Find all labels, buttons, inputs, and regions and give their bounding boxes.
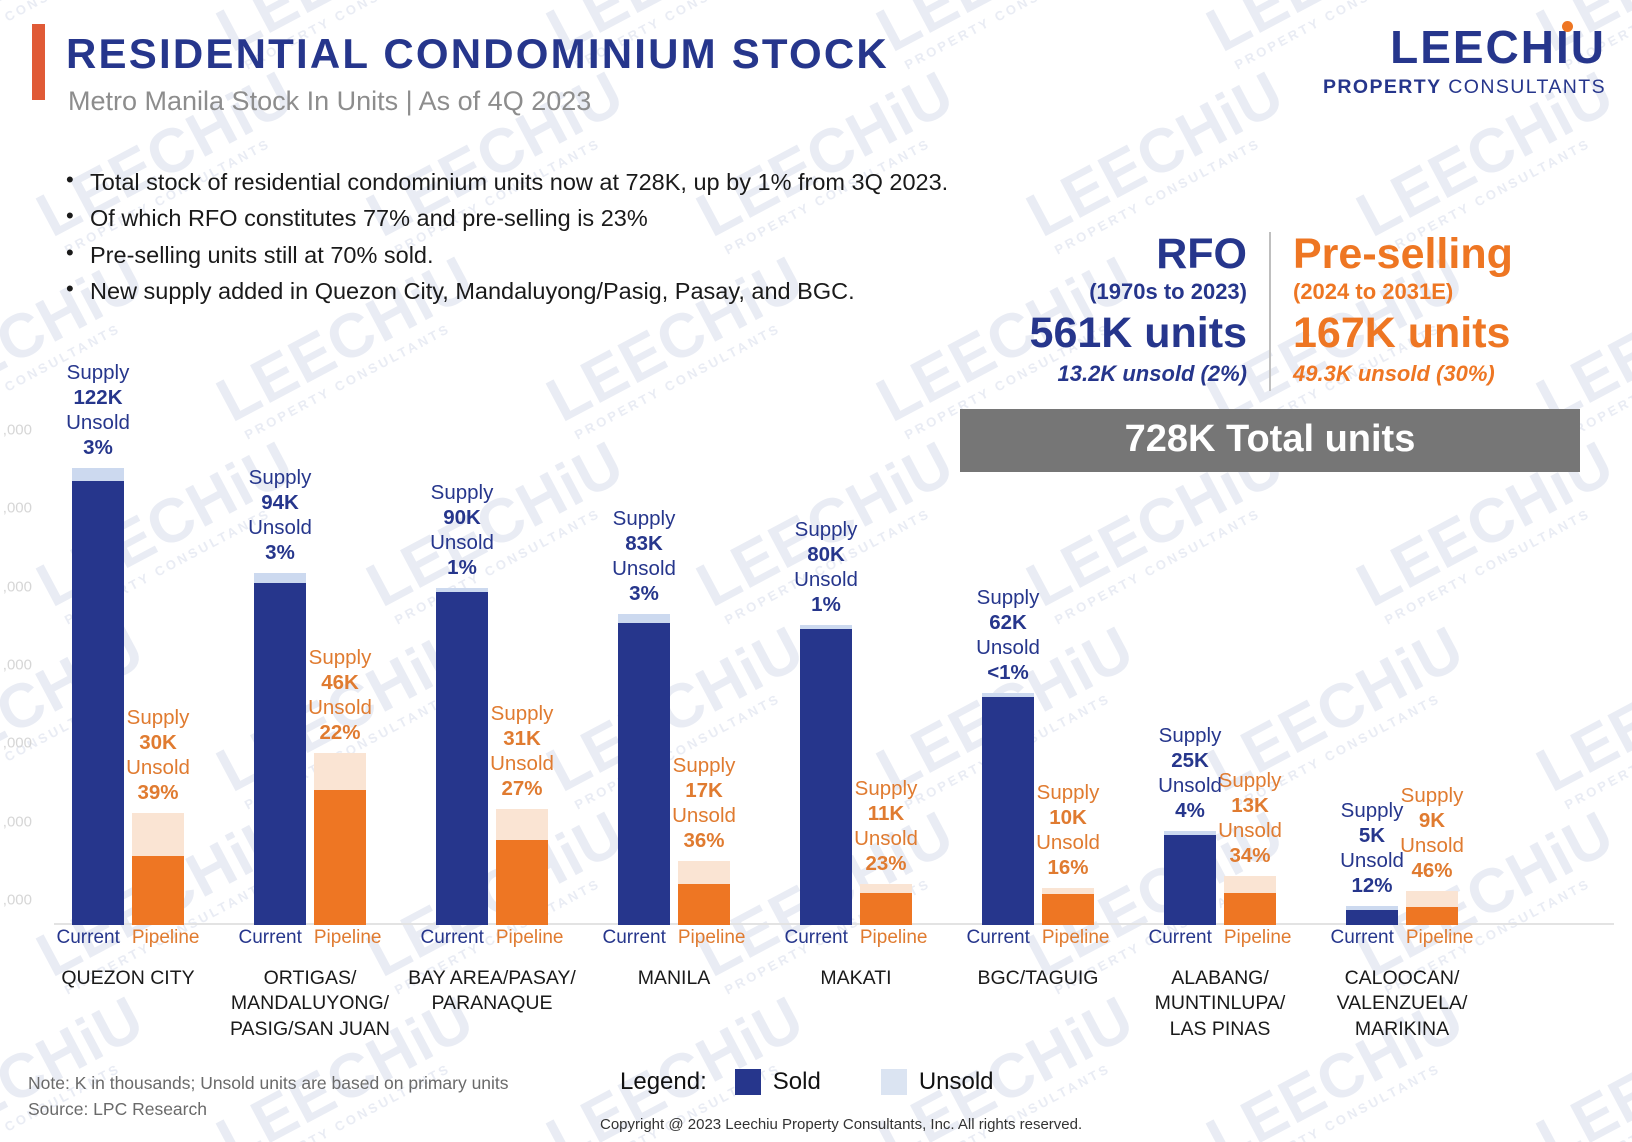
bar-segment-sold: [1406, 907, 1458, 925]
bar-segment-sold: [1346, 910, 1398, 925]
label-supply-word: Supply: [457, 701, 587, 726]
highlight-item: Of which RFO constitutes 77% and pre-sel…: [62, 201, 948, 235]
bar-segment-unsold: [1406, 891, 1458, 907]
bar-segment-unsold: [1224, 876, 1276, 893]
x-axis-group: CurrentPipelineMANILA: [582, 927, 766, 991]
page-header: RESIDENTIAL CONDOMINIUM STOCK Metro Mani…: [0, 0, 1632, 140]
logo-tagline-bold: PROPERTY: [1323, 76, 1441, 98]
label-unsold-pct: 36%: [639, 828, 769, 853]
label-supply-value: 62K: [943, 610, 1073, 635]
series-tick-row: CurrentPipeline: [1128, 927, 1312, 949]
stacked-bar[interactable]: [678, 861, 730, 925]
bar-segment-sold: [1224, 893, 1276, 925]
bar-segment-unsold: [678, 861, 730, 884]
district-label-line: PARANAQUE: [400, 991, 584, 1016]
bar-value-label: Supply13KUnsold34%: [1185, 768, 1315, 868]
tick-pipeline: Pipeline: [1042, 927, 1110, 948]
label-unsold-pct: 27%: [457, 776, 587, 801]
highlights-list: Total stock of residential condominium u…: [62, 165, 948, 310]
x-axis-group: CurrentPipelineORTIGAS/MANDALUYONG/PASIG…: [218, 927, 402, 1042]
bar-group: Supply83KUnsold3%Supply17KUnsold36%: [618, 400, 730, 925]
district-label-line: MUNTINLUPA/: [1128, 991, 1312, 1016]
y-axis-tick: ,000: [3, 892, 32, 909]
y-axis: ,000,000,000,000,000,000,000: [0, 400, 34, 925]
stacked-bar[interactable]: [72, 468, 124, 926]
tick-pipeline: Pipeline: [132, 927, 200, 948]
highlight-item: Pre-selling units still at 70% sold.: [62, 238, 948, 272]
bar-segment-sold: [1042, 894, 1094, 926]
label-supply-word: Supply: [1185, 768, 1315, 793]
label-supply-word: Supply: [275, 645, 405, 670]
bar-value-label: Supply30KUnsold39%: [93, 705, 223, 805]
tick-pipeline: Pipeline: [678, 927, 746, 948]
label-unsold-word: Unsold: [215, 515, 345, 540]
label-supply-value: 83K: [579, 531, 709, 556]
x-axis-group: CurrentPipelineALABANG/MUNTINLUPA/LAS PI…: [1128, 927, 1312, 1042]
legend-swatch-unsold-icon: [881, 1069, 907, 1095]
bar-segment-unsold: [314, 753, 366, 791]
bar-current[interactable]: Supply5KUnsold12%: [1346, 906, 1398, 925]
label-unsold-pct: 3%: [215, 540, 345, 565]
district-label-line: BAY AREA/PASAY/: [400, 966, 584, 991]
plot-area: Supply122KUnsold3%Supply30KUnsold39%Supp…: [34, 400, 1632, 925]
legend-text-sold: Sold: [773, 1068, 821, 1096]
x-axis-group: CurrentPipelineBGC/TAGUIG: [946, 927, 1130, 991]
tick-pipeline: Pipeline: [1224, 927, 1292, 948]
label-unsold-word: Unsold: [1003, 830, 1133, 855]
source-line: Source: LPC Research: [28, 1096, 509, 1122]
bar-value-label: Supply11KUnsold23%: [821, 776, 951, 876]
bar-pipeline[interactable]: Supply17KUnsold36%: [678, 861, 730, 925]
district-label-line: VALENZUELA/: [1310, 991, 1494, 1016]
stacked-bar[interactable]: [1406, 891, 1458, 925]
label-supply-word: Supply: [215, 465, 345, 490]
rfo-unsold: 13.2K unsold (2%): [960, 361, 1247, 387]
bar-value-label: Supply9KUnsold46%: [1367, 783, 1497, 883]
label-unsold-word: Unsold: [33, 410, 163, 435]
label-supply-word: Supply: [93, 705, 223, 730]
rfo-year-range: (1970s to 2023): [960, 279, 1247, 305]
series-tick-row: CurrentPipeline: [1310, 927, 1494, 949]
label-unsold-word: Unsold: [761, 567, 891, 592]
tick-current: Current: [785, 927, 848, 948]
label-unsold-pct: 34%: [1185, 843, 1315, 868]
bar-value-label: Supply80KUnsold1%: [761, 517, 891, 617]
title-accent-bar: [32, 24, 45, 100]
bar-pipeline[interactable]: Supply11KUnsold23%: [860, 884, 912, 925]
y-axis-tick: ,000: [3, 813, 32, 830]
bar-pipeline[interactable]: Supply31KUnsold27%: [496, 809, 548, 925]
series-tick-row: CurrentPipeline: [764, 927, 948, 949]
label-unsold-pct: 1%: [397, 555, 527, 580]
label-supply-word: Supply: [1003, 780, 1133, 805]
series-tick-row: CurrentPipeline: [36, 927, 220, 949]
stat-card-preselling: Pre-selling (2024 to 2031E) 167K units 4…: [1269, 232, 1580, 391]
bar-segment-sold: [678, 884, 730, 925]
tick-current: Current: [239, 927, 302, 948]
label-supply-word: Supply: [821, 776, 951, 801]
tick-current: Current: [421, 927, 484, 948]
bar-pipeline[interactable]: Supply10KUnsold16%: [1042, 888, 1094, 926]
label-unsold-word: Unsold: [943, 635, 1073, 660]
label-unsold-word: Unsold: [397, 530, 527, 555]
district-label-line: BGC/TAGUIG: [946, 966, 1130, 991]
label-supply-value: 11K: [821, 801, 951, 826]
district-label-line: QUEZON CITY: [36, 966, 220, 991]
bar-group: Supply90KUnsold1%Supply31KUnsold27%: [436, 400, 548, 925]
bar-pipeline[interactable]: Supply46KUnsold22%: [314, 753, 366, 926]
bar-current[interactable]: Supply94KUnsold3%: [254, 573, 306, 926]
label-supply-value: 30K: [93, 730, 223, 755]
label-unsold-pct: 16%: [1003, 855, 1133, 880]
label-supply-word: Supply: [761, 517, 891, 542]
label-unsold-word: Unsold: [1185, 818, 1315, 843]
footnotes: Note: K in thousands; Unsold units are b…: [28, 1070, 509, 1123]
rfo-heading: RFO: [960, 232, 1247, 277]
bar-group: Supply122KUnsold3%Supply30KUnsold39%: [72, 400, 184, 925]
x-axis-group: CurrentPipelineCALOOCAN/VALENZUELA/MARIK…: [1310, 927, 1494, 1042]
bar-group: Supply62KUnsold<1%Supply10KUnsold16%: [982, 400, 1094, 925]
label-unsold-pct: <1%: [943, 660, 1073, 685]
preselling-unsold: 49.3K unsold (30%): [1293, 361, 1580, 387]
label-supply-value: 90K: [397, 505, 527, 530]
district-label: MANILA: [582, 966, 766, 991]
stacked-bar[interactable]: [1346, 906, 1398, 925]
stacked-bar[interactable]: [132, 813, 184, 926]
bar-value-label: Supply17KUnsold36%: [639, 753, 769, 853]
district-label: QUEZON CITY: [36, 966, 220, 991]
label-unsold-word: Unsold: [457, 751, 587, 776]
label-supply-word: Supply: [397, 480, 527, 505]
logo-wordmark: LEECHIU: [1390, 24, 1606, 70]
logo-orange-dot-icon: [1562, 21, 1573, 32]
tick-pipeline: Pipeline: [496, 927, 564, 948]
legend-swatch-sold-icon: [735, 1069, 761, 1095]
tick-current: Current: [1331, 927, 1394, 948]
label-unsold-word: Unsold: [639, 803, 769, 828]
bar-segment-unsold: [860, 884, 912, 893]
label-unsold-word: Unsold: [579, 556, 709, 581]
district-label-line: CALOOCAN/: [1310, 966, 1494, 991]
bar-segment-unsold: [132, 813, 184, 857]
district-label-line: ALABANG/: [1128, 966, 1312, 991]
bar-segment-sold: [860, 893, 912, 925]
stacked-bar[interactable]: [254, 573, 306, 926]
x-axis-group: CurrentPipelineMAKATI: [764, 927, 948, 991]
bar-value-label: Supply94KUnsold3%: [215, 465, 345, 565]
tick-pipeline: Pipeline: [860, 927, 928, 948]
district-label: ALABANG/MUNTINLUPA/LAS PINAS: [1128, 966, 1312, 1042]
bar-segment-unsold: [254, 573, 306, 584]
label-supply-word: Supply: [1367, 783, 1497, 808]
preselling-units: 167K units: [1293, 309, 1580, 358]
label-unsold-word: Unsold: [93, 755, 223, 780]
bar-segment-unsold: [618, 614, 670, 623]
logo-text: LEECHIU: [1390, 21, 1606, 73]
bar-pipeline[interactable]: Supply30KUnsold39%: [132, 813, 184, 926]
bar-value-label: Supply10KUnsold16%: [1003, 780, 1133, 880]
bar-segment-unsold: [496, 809, 548, 840]
tick-current: Current: [967, 927, 1030, 948]
legend-label: Legend:: [620, 1068, 707, 1096]
label-supply-value: 9K: [1367, 808, 1497, 833]
district-label: ORTIGAS/MANDALUYONG/PASIG/SAN JUAN: [218, 966, 402, 1042]
tick-current: Current: [57, 927, 120, 948]
y-axis-tick: ,000: [3, 735, 32, 752]
label-supply-word: Supply: [33, 360, 163, 385]
stacked-bar[interactable]: [1224, 876, 1276, 925]
stacked-bar[interactable]: [496, 809, 548, 925]
bar-segment-sold: [314, 790, 366, 925]
legend-text-unsold: Unsold: [919, 1068, 994, 1096]
label-supply-value: 31K: [457, 726, 587, 751]
logo-tagline-light: CONSULTANTS: [1441, 76, 1606, 98]
legend-item-unsold: Unsold: [881, 1068, 994, 1096]
bar-current[interactable]: Supply122KUnsold3%: [72, 468, 124, 926]
bar-segment-sold: [254, 583, 306, 925]
label-unsold-pct: 23%: [821, 851, 951, 876]
bar-pipeline[interactable]: Supply13KUnsold34%: [1224, 876, 1276, 925]
highlight-item: Total stock of residential condominium u…: [62, 165, 948, 199]
label-supply-value: 94K: [215, 490, 345, 515]
y-axis-tick: ,000: [3, 657, 32, 674]
bar-value-label: Supply31KUnsold27%: [457, 701, 587, 801]
district-label: CALOOCAN/VALENZUELA/MARIKINA: [1310, 966, 1494, 1042]
series-tick-row: CurrentPipeline: [218, 927, 402, 949]
label-unsold-word: Unsold: [275, 695, 405, 720]
y-axis-tick: ,000: [3, 500, 32, 517]
bar-value-label: Supply122KUnsold3%: [33, 360, 163, 460]
leechiu-logo: LEECHIU PROPERTY CONSULTANTS: [1323, 24, 1606, 99]
bar-value-label: Supply83KUnsold3%: [579, 506, 709, 606]
x-axis-group: CurrentPipelineQUEZON CITY: [36, 927, 220, 991]
tick-current: Current: [1149, 927, 1212, 948]
district-label-line: MANILA: [582, 966, 766, 991]
bar-segment-sold: [72, 481, 124, 925]
y-axis-tick: ,000: [3, 578, 32, 595]
label-supply-value: 80K: [761, 542, 891, 567]
series-tick-row: CurrentPipeline: [946, 927, 1130, 949]
series-tick-row: CurrentPipeline: [582, 927, 766, 949]
label-supply-word: Supply: [1125, 723, 1255, 748]
district-label: BGC/TAGUIG: [946, 966, 1130, 991]
label-supply-word: Supply: [639, 753, 769, 778]
district-label: MAKATI: [764, 966, 948, 991]
tick-pipeline: Pipeline: [314, 927, 382, 948]
x-axis-group: CurrentPipelineBAY AREA/PASAY/PARANAQUE: [400, 927, 584, 1017]
stacked-bar[interactable]: [860, 884, 912, 925]
label-supply-word: Supply: [943, 585, 1073, 610]
bar-value-label: Supply46KUnsold22%: [275, 645, 405, 745]
bar-segment-sold: [496, 840, 548, 925]
label-supply-value: 122K: [33, 385, 163, 410]
district-label-line: ORTIGAS/: [218, 966, 402, 991]
label-supply-word: Supply: [579, 506, 709, 531]
bar-group: Supply80KUnsold1%Supply11KUnsold23%: [800, 400, 912, 925]
copyright-line: Copyright @ 2023 Leechiu Property Consul…: [600, 1116, 1082, 1133]
label-unsold-pct: 39%: [93, 780, 223, 805]
label-unsold-word: Unsold: [1367, 833, 1497, 858]
total-units-banner: 728K Total units: [960, 409, 1580, 472]
chart-legend: Legend: Sold Unsold: [620, 1068, 1054, 1096]
preselling-year-range: (2024 to 2031E): [1293, 279, 1580, 305]
bar-group: Supply25KUnsold4%Supply13KUnsold34%: [1164, 400, 1276, 925]
label-supply-value: 10K: [1003, 805, 1133, 830]
district-label: BAY AREA/PASAY/PARANAQUE: [400, 966, 584, 1017]
district-label-line: MANDALUYONG/: [218, 991, 402, 1016]
bar-segment-unsold: [72, 468, 124, 482]
bar-pipeline[interactable]: Supply9KUnsold46%: [1406, 891, 1458, 925]
preselling-heading: Pre-selling: [1293, 232, 1580, 277]
stacked-bar[interactable]: [1042, 888, 1094, 926]
label-unsold-word: Unsold: [821, 826, 951, 851]
rfo-units: 561K units: [960, 309, 1247, 358]
series-tick-row: CurrentPipeline: [400, 927, 584, 949]
tick-pipeline: Pipeline: [1406, 927, 1474, 948]
label-unsold-pct: 22%: [275, 720, 405, 745]
page-footer: Note: K in thousands; Unsold units are b…: [0, 1032, 1632, 1142]
label-unsold-pct: 46%: [1367, 858, 1497, 883]
summary-stats-panel: RFO (1970s to 2023) 561K units 13.2K uns…: [960, 232, 1580, 472]
stat-card-rfo: RFO (1970s to 2023) 561K units 13.2K uns…: [960, 232, 1269, 391]
label-supply-value: 46K: [275, 670, 405, 695]
highlight-item: New supply added in Quezon City, Mandalu…: [62, 274, 948, 308]
bar-group: Supply5KUnsold12%Supply9KUnsold46%: [1346, 400, 1458, 925]
bar-value-label: Supply62KUnsold<1%: [943, 585, 1073, 685]
page-subtitle: Metro Manila Stock In Units | As of 4Q 2…: [68, 86, 591, 117]
logo-tagline: PROPERTY CONSULTANTS: [1323, 76, 1606, 99]
y-axis-tick: ,000: [3, 422, 32, 439]
page-title: RESIDENTIAL CONDOMINIUM STOCK: [66, 30, 889, 78]
district-label-line: MAKATI: [764, 966, 948, 991]
tick-current: Current: [603, 927, 666, 948]
bar-value-label: Supply90KUnsold1%: [397, 480, 527, 580]
label-supply-value: 17K: [639, 778, 769, 803]
label-unsold-pct: 3%: [579, 581, 709, 606]
note-line: Note: K in thousands; Unsold units are b…: [28, 1070, 509, 1096]
bar-segment-sold: [132, 856, 184, 925]
label-unsold-pct: 3%: [33, 435, 163, 460]
stacked-bar[interactable]: [314, 753, 366, 926]
label-unsold-pct: 1%: [761, 592, 891, 617]
legend-item-sold: Sold: [735, 1068, 821, 1096]
bar-group: Supply94KUnsold3%Supply46KUnsold22%: [254, 400, 366, 925]
condominium-stock-bar-chart: ,000,000,000,000,000,000,000 Supply122KU…: [0, 400, 1632, 940]
label-supply-value: 13K: [1185, 793, 1315, 818]
